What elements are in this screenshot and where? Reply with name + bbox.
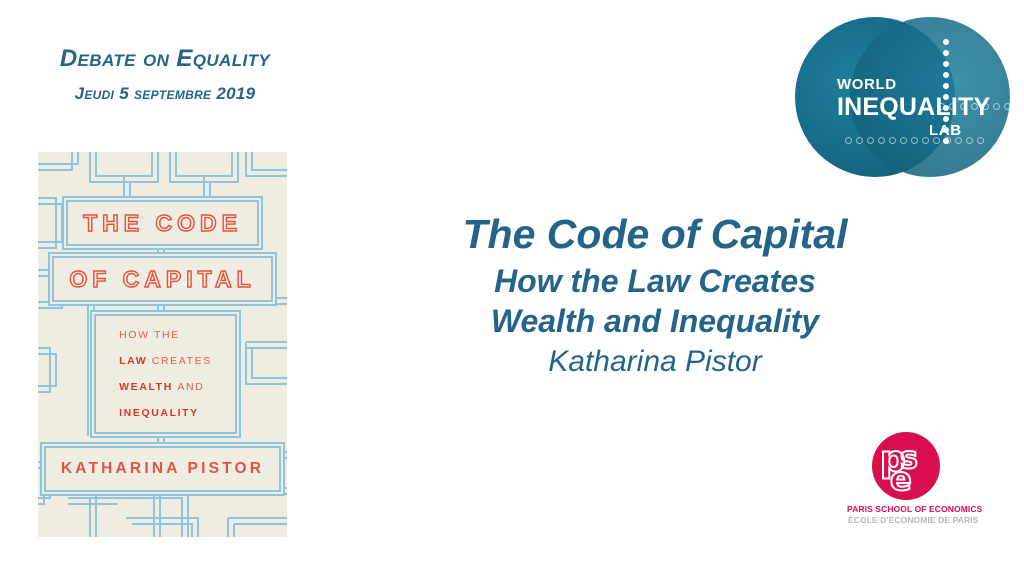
main-title-block: The Code of Capital How the Law Creates …	[355, 212, 955, 380]
pse-monogram-mark: p s e	[872, 432, 940, 500]
paris-school-of-economics-logo: p s e PARIS SCHOOL OF ECONOMICS ÉCOLE D'…	[845, 432, 1020, 527]
logo-dot-row-bottom	[845, 137, 988, 144]
pse-name-french: ÉCOLE D'ÉCONOMIE DE PARIS	[848, 515, 978, 525]
pse-letter-e: e	[890, 463, 912, 495]
event-header: Debate on Equality Jeudi 5 septembre 201…	[0, 46, 330, 104]
logo-word-world: WORLD	[837, 77, 990, 92]
cover-subtitle-line-2: LAW CREATES	[119, 348, 212, 374]
cover-subtitle-line-4: INEQUALITY	[119, 400, 212, 426]
event-title: Debate on Equality	[0, 46, 330, 72]
page-title: The Code of Capital	[355, 212, 955, 258]
cover-title-line-2: OF CAPITAL	[69, 266, 255, 293]
cover-subtitle-lines: HOW THELAW CREATESWEALTH ANDINEQUALITY	[119, 322, 212, 426]
page-subtitle-line-2: Wealth and Inequality	[355, 302, 955, 342]
pse-name-english: PARIS SCHOOL OF ECONOMICS	[847, 504, 982, 514]
cover-subtitle-line-3: WEALTH AND	[119, 374, 212, 400]
cover-title-box-2: OF CAPITAL	[52, 256, 273, 302]
event-date: Jeudi 5 septembre 2019	[0, 84, 330, 104]
cover-title-line-1: THE CODE	[83, 210, 242, 237]
page-subtitle-line-1: How the Law Creates	[355, 262, 955, 302]
cover-author-name: KATHARINA PISTOR	[61, 460, 264, 478]
world-inequality-lab-logo: WORLD INEQUALITY LAB	[795, 17, 1010, 177]
cover-subtitle-box: HOW THELAW CREATESWEALTH ANDINEQUALITY	[94, 314, 237, 434]
cover-title-box-1: THE CODE	[66, 200, 259, 246]
page-subtitle: How the Law Creates Wealth and Inequalit…	[355, 262, 955, 341]
logo-word-lab: LAB	[929, 123, 990, 138]
logo-wordmark: WORLD INEQUALITY LAB	[837, 77, 990, 138]
logo-dot-column	[943, 39, 949, 149]
book-cover-image: THE CODE OF CAPITAL HOW THELAW CREATESWE…	[38, 152, 287, 537]
cover-subtitle-line-1: HOW THE	[119, 322, 212, 348]
cover-author-box: KATHARINA PISTOR	[44, 446, 281, 492]
logo-word-inequality: INEQUALITY	[837, 95, 990, 120]
page-author: Katharina Pistor	[355, 344, 955, 380]
